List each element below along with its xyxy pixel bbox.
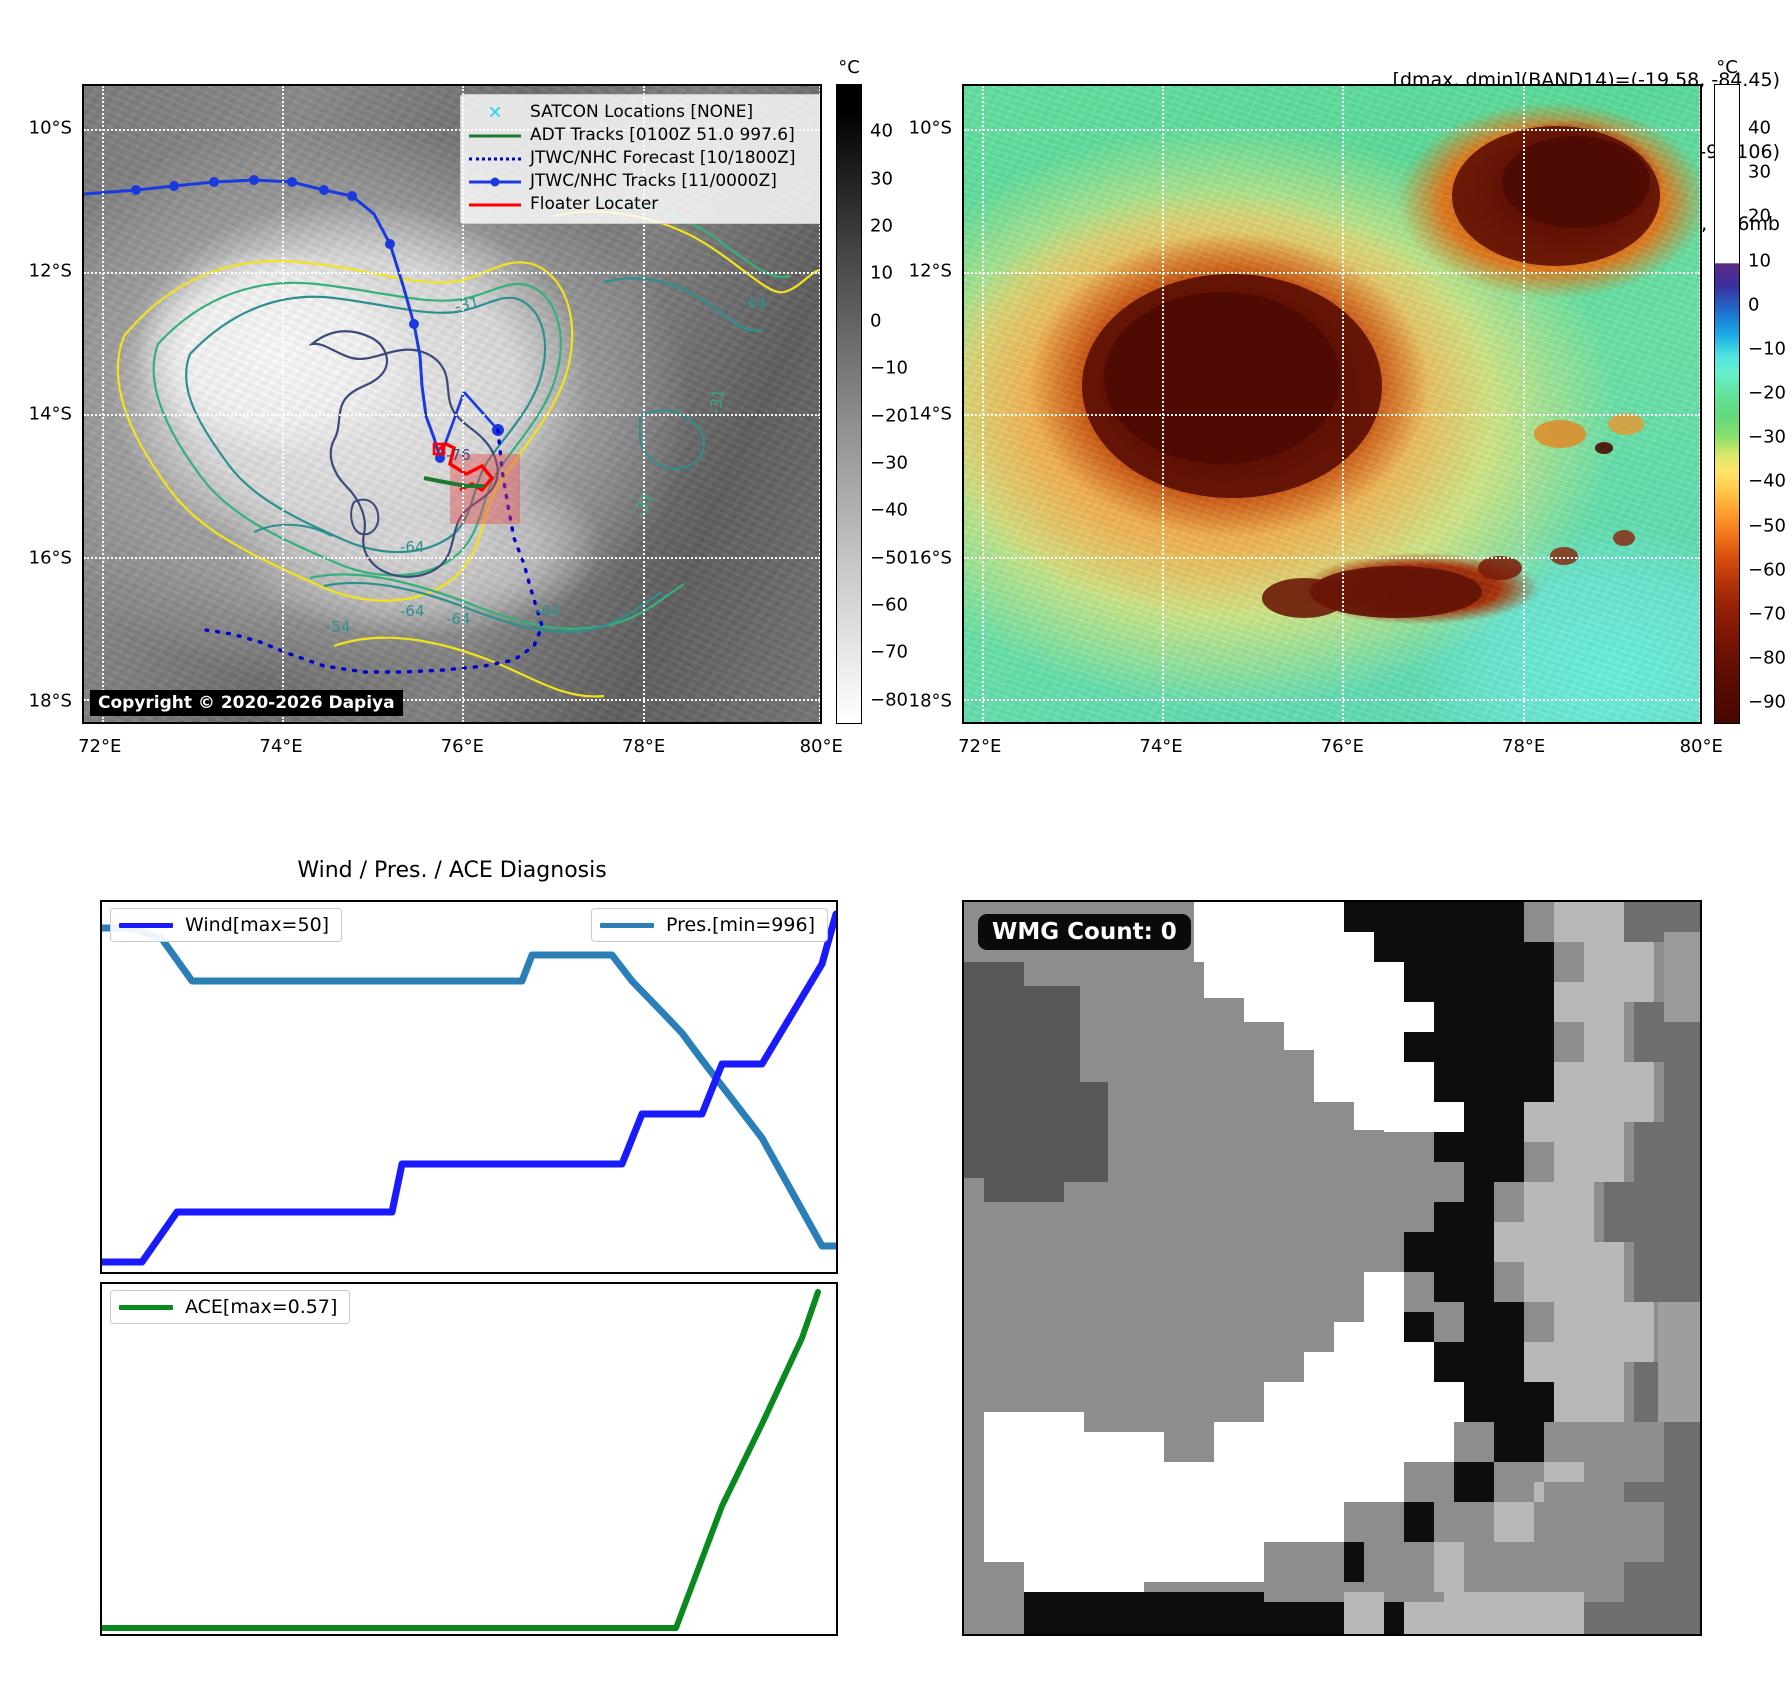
legend-item-forecast: JTWC/NHC Forecast [10/1800Z] (469, 147, 821, 170)
svg-text:-64: -64 (400, 602, 425, 620)
svg-text:-64: -64 (742, 294, 767, 312)
svg-text:-31: -31 (453, 293, 481, 316)
ace-chart[interactable]: ACE[max=0.57] ACE 0.5 0.4 0.3 0.2 0.1 0.… (100, 1282, 838, 1636)
satcon-marker-icon: ✕ (469, 106, 521, 120)
svg-text:-31: -31 (706, 387, 728, 414)
floater-line-icon (469, 198, 521, 212)
enhanced-ir-features (964, 86, 1700, 722)
wmg-raster (964, 902, 1700, 1634)
svg-text:-76: -76 (446, 446, 471, 464)
jtwc-track-line-icon (469, 175, 521, 189)
wind-pressure-series (102, 902, 836, 1272)
svg-text:-31: -31 (631, 490, 656, 519)
copyright-notice: Copyright © 2020-2026 Dapiya (90, 690, 403, 716)
forecast-dotted-line-icon (469, 152, 521, 166)
ir-legend: ✕ SATCON Locations [NONE] ADT Tracks [01… (460, 94, 822, 224)
wind-legend: Wind[max=50] (110, 908, 342, 942)
colorbar-gradient-gray (836, 84, 862, 724)
legend-item-satcon: ✕ SATCON Locations [NONE] (469, 101, 821, 124)
adt-line-icon (469, 129, 521, 143)
legend-item-jtwc-tracks: JTWC/NHC Tracks [11/0000Z] (469, 170, 821, 193)
legend-item-floater-locater: Floater Locater (469, 193, 821, 216)
pressure-line-icon (600, 923, 654, 928)
colorbar-unit-label: °C (838, 57, 860, 78)
wmg-panel[interactable]: WMG Count: 0 (962, 900, 1702, 1636)
wmg-count-badge: WMG Count: 0 (978, 914, 1191, 950)
ace-series (102, 1284, 836, 1634)
ace-legend: ACE[max=0.57] (110, 1290, 350, 1324)
pressure-legend: Pres.[min=996] (591, 908, 828, 942)
svg-text:-64: -64 (400, 538, 425, 556)
ir-band13-floater-panel[interactable]: -76 -64 -54 -64 -64 -64 -31 -64 -31 -31 … (82, 84, 822, 724)
wind-line-icon (119, 923, 173, 928)
svg-text:-54: -54 (326, 618, 351, 636)
svg-text:-64: -64 (536, 602, 561, 620)
wind-pressure-chart[interactable]: Wind[max=50] Pres.[min=996] Wind 50 45 4… (100, 900, 838, 1274)
colorbar-unit-label: °C (1716, 57, 1738, 78)
legend-item-adt-tracks: ADT Tracks [0100Z 51.0 997.6] (469, 124, 821, 147)
colorbar-gradient-enhanced (1714, 84, 1740, 724)
svg-text:-64: -64 (446, 610, 471, 628)
enhanced-ir-awv-panel[interactable] (962, 84, 1702, 724)
ace-line-icon (119, 1305, 173, 1310)
grayscale-colorbar: °C 40 30 20 10 0 −10 −20 −30 −40 −50 −60… (836, 84, 862, 724)
enhanced-ir-colorbar: °C 40 30 20 10 0 −10 −20 −30 −40 −50 −60… (1714, 84, 1740, 724)
diagnosis-title: Wind / Pres. / ACE Diagnosis (297, 858, 606, 883)
